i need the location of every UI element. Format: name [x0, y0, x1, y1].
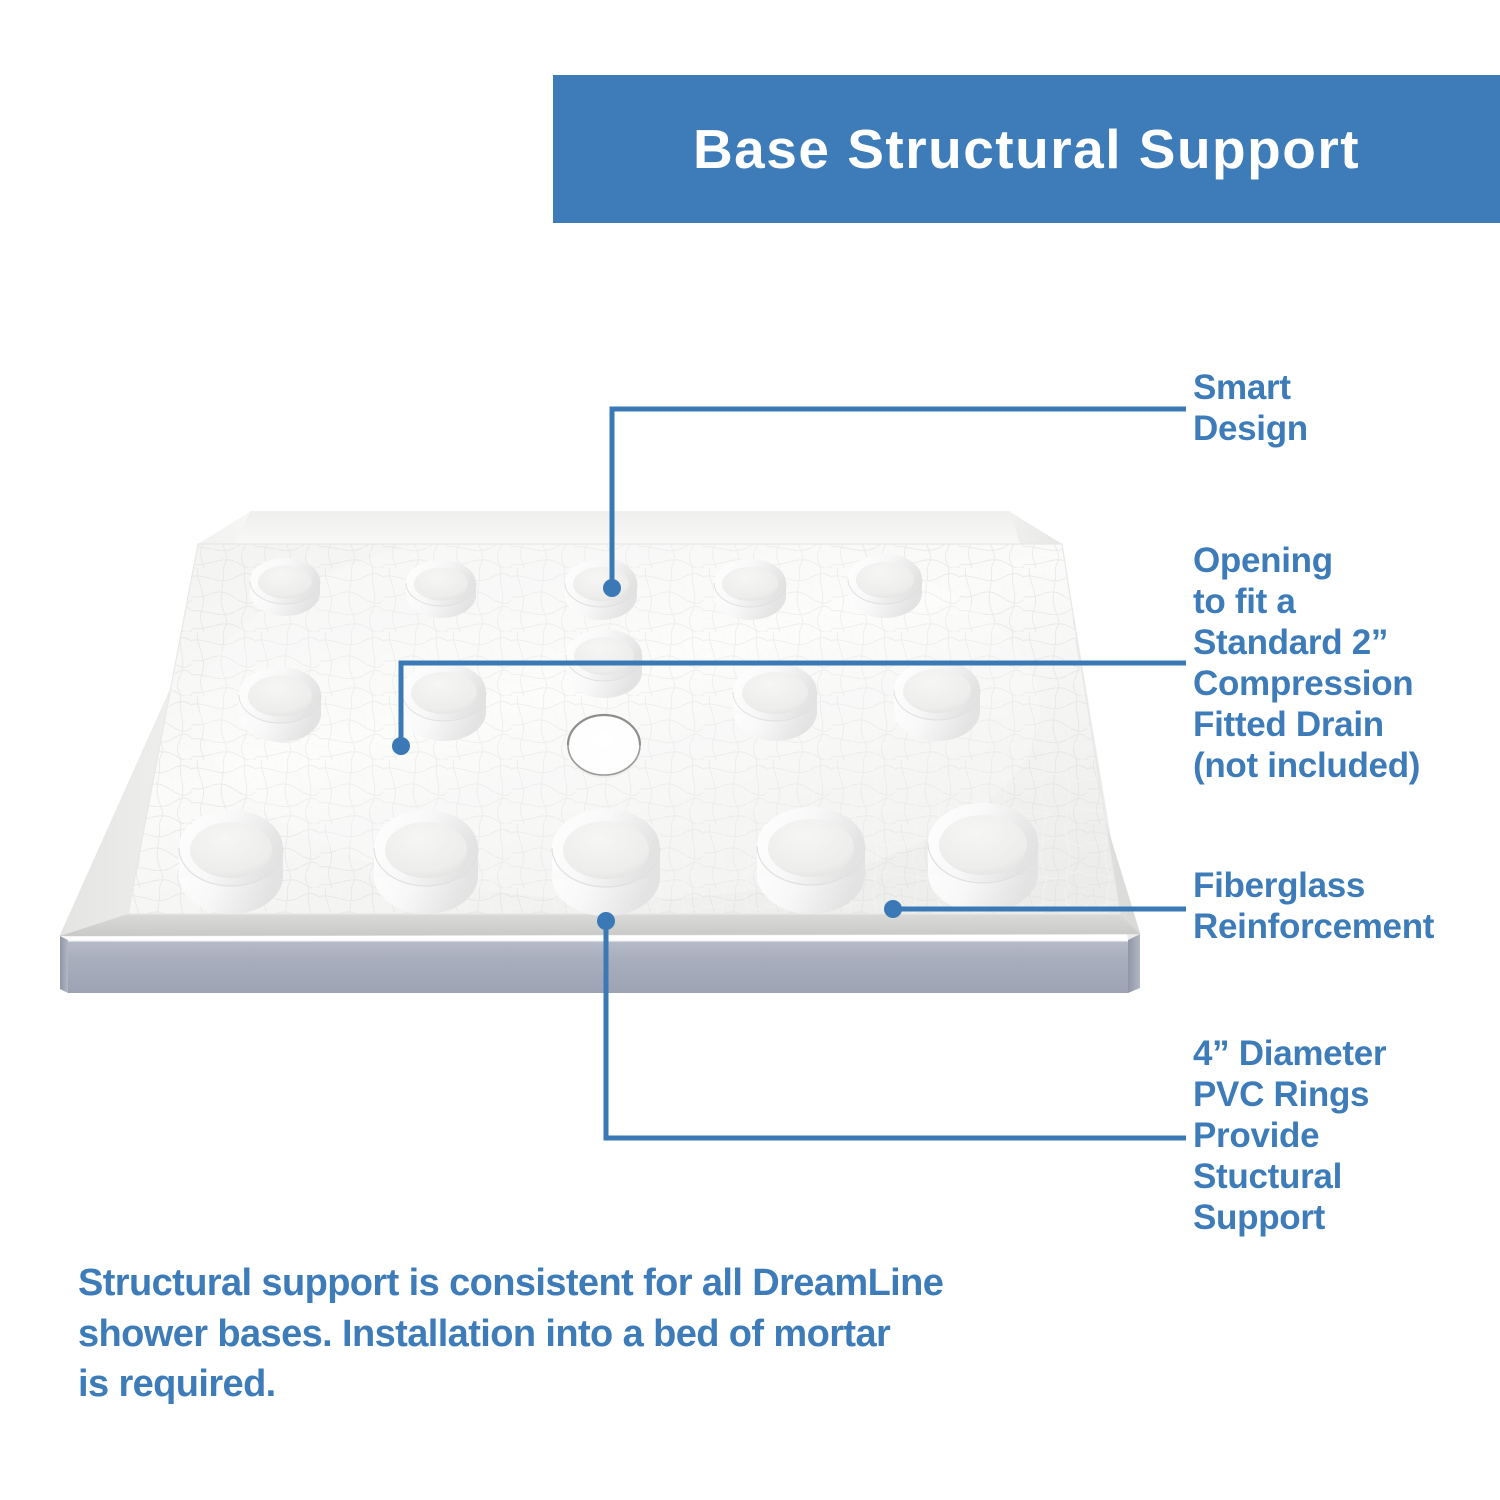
callout-line: 4” Diameter: [1193, 1034, 1386, 1075]
base-right-face: [1128, 934, 1140, 993]
pvc-ring-smart-design: [565, 559, 637, 620]
base-left-face: [60, 936, 68, 993]
drain-opening: [568, 715, 640, 778]
pvc-ring: [894, 660, 980, 741]
base-back-wall: [198, 512, 1062, 544]
footer-line: is required.: [78, 1359, 1038, 1410]
pvc-ring: [406, 560, 476, 618]
pvc-ring: [733, 663, 817, 741]
callout-line: Opening: [1193, 541, 1420, 582]
base-front-face: [68, 940, 1128, 993]
footer-note: Structural support is consistent for all…: [78, 1258, 1038, 1410]
pvc-ring: [566, 629, 642, 698]
callout-line: Fiberglass: [1193, 866, 1434, 907]
callout-line: Support: [1193, 1198, 1386, 1239]
pvc-ring: [848, 554, 922, 618]
footer-line: Structural support is consistent for all…: [78, 1258, 1038, 1309]
base-front-wall: [60, 914, 1140, 936]
pvc-ring: [714, 559, 786, 620]
footer-line: shower bases. Installation into a bed of…: [78, 1309, 1038, 1360]
callout-line: Reinforcement: [1193, 907, 1434, 948]
infographic-page: Base Structural Support: [0, 0, 1500, 1500]
callout-line: Design: [1193, 409, 1308, 450]
pvc-ring-callout-target: [552, 809, 660, 916]
callout-line: Compression: [1193, 664, 1420, 705]
callout-line: (not included): [1193, 746, 1420, 787]
callout-line: Standard 2”: [1193, 623, 1420, 664]
callout-line: to fit a: [1193, 582, 1420, 623]
callout-fiberglass-reinforcement: Fiberglass Reinforcement: [1193, 866, 1434, 948]
callout-drain-opening: Opening to fit a Standard 2” Compression…: [1193, 541, 1420, 787]
callout-line: Stuctural: [1193, 1157, 1386, 1198]
pvc-ring: [179, 810, 283, 914]
callout-line: Fitted Drain: [1193, 705, 1420, 746]
callout-smart-design: Smart Design: [1193, 368, 1308, 450]
product-illustration: [0, 440, 1200, 1060]
callout-pvc-rings: 4” Diameter PVC Rings Provide Stuctural …: [1193, 1034, 1386, 1239]
callout-line: Provide: [1193, 1116, 1386, 1157]
page-title: Base Structural Support: [693, 117, 1360, 181]
title-banner: Base Structural Support: [553, 75, 1500, 223]
pvc-ring: [374, 810, 478, 914]
callout-line: PVC Rings: [1193, 1075, 1386, 1116]
pvc-ring: [928, 803, 1038, 913]
pvc-ring: [757, 807, 865, 914]
callout-line: Smart: [1193, 368, 1308, 409]
pvc-ring: [402, 663, 486, 741]
pvc-ring: [239, 667, 321, 742]
pvc-ring: [250, 558, 320, 616]
